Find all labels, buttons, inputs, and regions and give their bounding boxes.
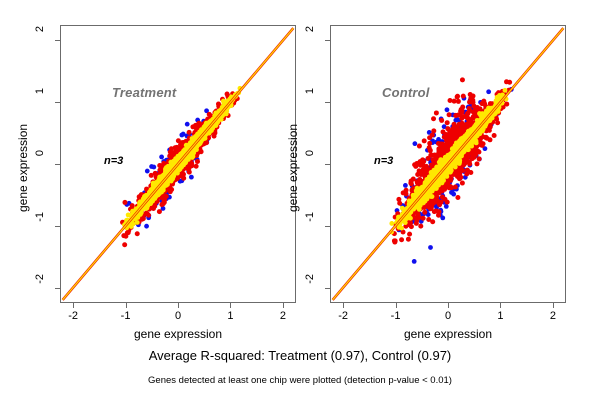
x-tick-mark	[73, 303, 74, 308]
y-tick-mark	[325, 288, 330, 289]
sample-size-label-treatment: n=3	[104, 155, 123, 167]
y-tick-label: 1	[304, 88, 316, 112]
figure-root: Treatment n=3 Control n=3 -2-1012-2-1012…	[0, 0, 600, 400]
y-tick-mark	[325, 40, 330, 41]
x-tick-mark	[126, 303, 127, 308]
x-tick-label: -1	[381, 310, 411, 322]
y-tick-mark	[55, 164, 60, 165]
x-tick-mark	[553, 303, 554, 308]
x-tick-label: 2	[268, 310, 298, 322]
y-tick-label: -2	[34, 274, 46, 298]
x-tick-label: -2	[58, 310, 88, 322]
y-axis-title: gene expression	[16, 124, 30, 212]
x-tick-label: 0	[433, 310, 463, 322]
x-tick-mark	[343, 303, 344, 308]
y-tick-mark	[55, 226, 60, 227]
y-tick-label: 0	[304, 150, 316, 174]
y-tick-mark	[325, 164, 330, 165]
x-tick-label: 2	[538, 310, 568, 322]
x-axis-title: gene expression	[330, 327, 566, 341]
sample-size-label-control: n=3	[374, 155, 393, 167]
x-tick-label: 0	[163, 310, 193, 322]
y-tick-label: 0	[34, 150, 46, 174]
panel-label-control: Control	[382, 85, 430, 100]
plot-panel-control: Control n=3	[330, 25, 566, 303]
plot-area-control	[330, 25, 566, 303]
x-tick-mark	[500, 303, 501, 308]
y-tick-mark	[55, 40, 60, 41]
y-tick-label: -1	[304, 212, 316, 236]
y-tick-mark	[55, 102, 60, 103]
y-tick-label: 2	[34, 26, 46, 50]
x-tick-label: -1	[111, 310, 141, 322]
y-tick-label: -1	[34, 212, 46, 236]
scatter-canvas-treatment	[60, 25, 296, 303]
y-tick-mark	[325, 226, 330, 227]
x-tick-mark	[178, 303, 179, 308]
panel-label-treatment: Treatment	[112, 85, 176, 100]
y-tick-label: 2	[304, 26, 316, 50]
y-tick-label: 1	[34, 88, 46, 112]
x-axis-title: gene expression	[60, 327, 296, 341]
scatter-canvas-control	[330, 25, 566, 303]
y-tick-mark	[55, 288, 60, 289]
x-tick-label: -2	[328, 310, 358, 322]
y-axis-title: gene expression	[286, 124, 300, 212]
x-tick-label: 1	[485, 310, 515, 322]
caption-detection-note: Genes detected at least one chip were pl…	[0, 375, 600, 386]
plot-area-treatment	[60, 25, 296, 303]
plot-panel-treatment: Treatment n=3	[60, 25, 296, 303]
x-tick-mark	[283, 303, 284, 308]
caption-average-r-squared: Average R-squared: Treatment (0.97), Con…	[0, 348, 600, 363]
x-tick-mark	[448, 303, 449, 308]
y-tick-mark	[325, 102, 330, 103]
x-tick-label: 1	[215, 310, 245, 322]
x-tick-mark	[396, 303, 397, 308]
x-tick-mark	[230, 303, 231, 308]
y-tick-label: -2	[304, 274, 316, 298]
